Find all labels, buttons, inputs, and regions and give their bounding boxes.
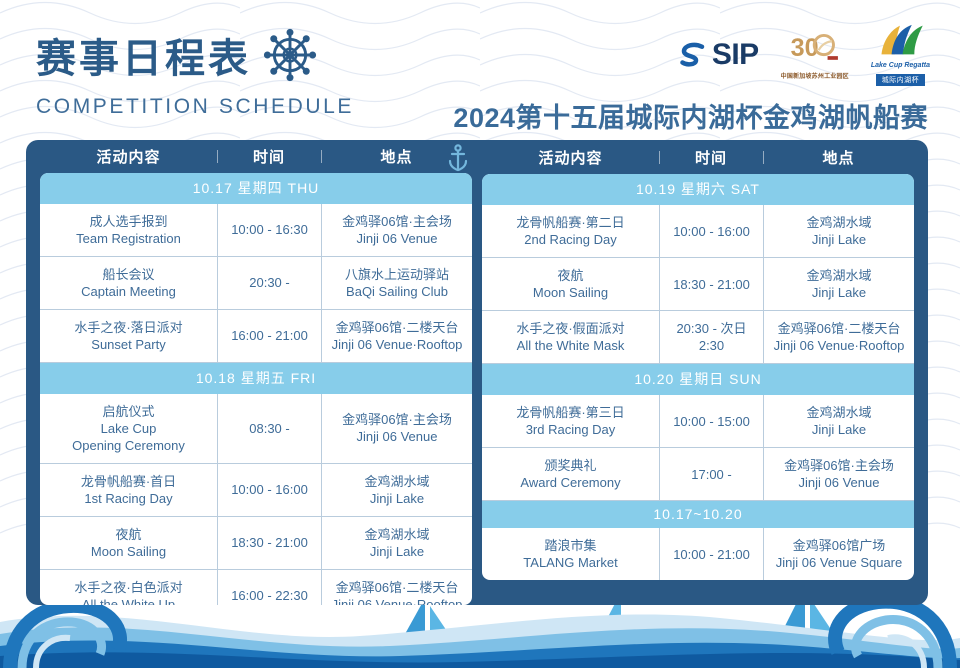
sip-logo: SIP: [678, 38, 759, 72]
page-header: 赛事日程表: [0, 0, 960, 140]
page-subtitle: COMPETITION SCHEDULE: [36, 95, 386, 119]
cell-event: 启航仪式Lake CupOpening Ceremony: [40, 394, 217, 463]
cell-event: 水手之夜·假面派对All the White Mask: [482, 311, 659, 363]
column-header-event: 活动内容: [482, 147, 659, 168]
cell-place: 金鸡驿06馆·主会场Jinji 06 Venue: [763, 448, 914, 500]
date-band: 10.20 星期日 SUN: [482, 364, 914, 395]
table-row[interactable]: 夜航Moon Sailing18:30 - 21:00金鸡湖水域Jinji La…: [40, 517, 472, 570]
anniversary-logo-subtitle: 中国新加坡苏州工业园区: [781, 71, 849, 80]
cell-place: 金鸡驿06馆·主会场Jinji 06 Venue: [321, 394, 472, 463]
page-title: 赛事日程表: [36, 36, 251, 82]
column-header-time: 时间: [217, 146, 321, 167]
lake-cup-logo: Lake Cup Regatta 城际内湖杯: [871, 24, 930, 87]
cell-place: 金鸡湖水域Jinji Lake: [763, 205, 914, 257]
cell-time: 08:30 -: [217, 394, 321, 463]
lake-cup-logo-cn: 城际内湖杯: [876, 74, 926, 86]
cell-time: 17:00 -: [659, 448, 763, 500]
cell-time: 18:30 - 21:00: [217, 517, 321, 569]
cell-time: 20:30 -: [217, 257, 321, 309]
column-header-time: 时间: [659, 147, 763, 168]
column-header-place: 地点: [763, 147, 914, 168]
cell-place: 八旗水上运动驿站BaQi Sailing Club: [321, 257, 472, 309]
schedule-column-left: 活动内容 时间 地点 10.17 星期四 THU成人选手报到Team Regis…: [40, 140, 472, 605]
schedule-table-right: 10.19 星期六 SAT龙骨帆船赛·第二日2nd Racing Day10:0…: [482, 174, 914, 580]
cell-event: 夜航Moon Sailing: [40, 517, 217, 569]
ships-wheel-icon: [261, 26, 319, 89]
title-block: 赛事日程表: [36, 26, 386, 119]
cell-time: 20:30 - 次日2:30: [659, 311, 763, 363]
cell-place: 金鸡湖水域Jinji Lake: [321, 517, 472, 569]
cell-event: 龙骨帆船赛·第二日2nd Racing Day: [482, 205, 659, 257]
table-row[interactable]: 龙骨帆船赛·第二日2nd Racing Day10:00 - 16:00金鸡湖水…: [482, 205, 914, 258]
logo-group: SIP 30 中国新加坡苏州工业园区 Lake Cup Regatta 城际内湖…: [678, 26, 930, 84]
anchor-icon: [447, 144, 469, 172]
table-row[interactable]: 水手之夜·落日派对Sunset Party16:00 - 21:00金鸡驿06馆…: [40, 310, 472, 363]
date-band: 10.18 星期五 FRI: [40, 363, 472, 394]
table-row[interactable]: 水手之夜·白色派对All the White Up16:00 - 22:30金鸡…: [40, 570, 472, 605]
cell-time: 10:00 - 15:00: [659, 395, 763, 447]
cell-place: 金鸡湖水域Jinji Lake: [763, 395, 914, 447]
table-row[interactable]: 龙骨帆船赛·第三日3rd Racing Day10:00 - 15:00金鸡湖水…: [482, 395, 914, 448]
table-row[interactable]: 启航仪式Lake CupOpening Ceremony08:30 -金鸡驿06…: [40, 394, 472, 464]
cell-time: 16:00 - 21:00: [217, 310, 321, 362]
date-band: 10.19 星期六 SAT: [482, 174, 914, 205]
date-band: 10.17 星期四 THU: [40, 173, 472, 204]
lake-cup-sail-icon: [874, 24, 926, 56]
sip-mark-icon: [678, 40, 708, 70]
schedule-column-right: 活动内容 时间 地点 10.19 星期六 SAT龙骨帆船赛·第二日2nd Rac…: [482, 140, 914, 605]
table-row[interactable]: 龙骨帆船赛·首日1st Racing Day10:00 - 16:00金鸡湖水域…: [40, 464, 472, 517]
cell-event: 水手之夜·落日派对Sunset Party: [40, 310, 217, 362]
event-title: 2024第十五届城际内湖杯金鸡湖帆船赛: [453, 96, 928, 135]
schedule-table-left: 10.17 星期四 THU成人选手报到Team Registration10:0…: [40, 173, 472, 605]
cell-event: 水手之夜·白色派对All the White Up: [40, 570, 217, 605]
cell-event: 成人选手报到Team Registration: [40, 204, 217, 256]
cell-time: 10:00 - 16:00: [659, 205, 763, 257]
table-row[interactable]: 夜航Moon Sailing18:30 - 21:00金鸡湖水域Jinji La…: [482, 258, 914, 311]
schedule-panel: 活动内容 时间 地点 10.17 星期四 THU成人选手报到Team Regis…: [26, 140, 928, 605]
table-row[interactable]: 船长会议Captain Meeting20:30 -八旗水上运动驿站BaQi S…: [40, 257, 472, 310]
table-row[interactable]: 成人选手报到Team Registration10:00 - 16:30金鸡驿0…: [40, 204, 472, 257]
cell-place: 金鸡驿06馆·主会场Jinji 06 Venue: [321, 204, 472, 256]
cell-place: 金鸡驿06馆广场Jinji 06 Venue Square: [763, 528, 914, 580]
cell-time: 10:00 - 16:00: [217, 464, 321, 516]
table-row[interactable]: 踏浪市集TALANG Market10:00 - 21:00金鸡驿06馆广场Ji…: [482, 528, 914, 580]
cell-place: 金鸡驿06馆·二楼天台Jinji 06 Venue·Rooftop: [763, 311, 914, 363]
date-band: 10.17~10.20: [482, 501, 914, 528]
column-header-event: 活动内容: [40, 146, 217, 167]
column-header-left: 活动内容 时间 地点: [40, 140, 472, 173]
cell-place: 金鸡驿06馆·二楼天台Jinji 06 Venue·Rooftop: [321, 570, 472, 605]
cell-place: 金鸡驿06馆·二楼天台Jinji 06 Venue·Rooftop: [321, 310, 472, 362]
cell-event: 颁奖典礼Award Ceremony: [482, 448, 659, 500]
cell-place: 金鸡湖水域Jinji Lake: [763, 258, 914, 310]
cell-time: 16:00 - 22:30: [217, 570, 321, 605]
sip-logo-text: SIP: [712, 38, 759, 72]
lake-cup-logo-en: Lake Cup Regatta: [871, 62, 930, 69]
cell-time: 10:00 - 21:00: [659, 528, 763, 580]
cell-event: 船长会议Captain Meeting: [40, 257, 217, 309]
cell-event: 龙骨帆船赛·首日1st Racing Day: [40, 464, 217, 516]
table-row[interactable]: 颁奖典礼Award Ceremony17:00 -金鸡驿06馆·主会场Jinji…: [482, 448, 914, 501]
anniversary-30-icon: 30: [789, 31, 841, 65]
cell-event: 夜航Moon Sailing: [482, 258, 659, 310]
cell-time: 18:30 - 21:00: [659, 258, 763, 310]
column-header-right: 活动内容 时间 地点: [482, 140, 914, 174]
table-row[interactable]: 水手之夜·假面派对All the White Mask20:30 - 次日2:3…: [482, 311, 914, 364]
cell-time: 10:00 - 16:30: [217, 204, 321, 256]
cell-event: 龙骨帆船赛·第三日3rd Racing Day: [482, 395, 659, 447]
cell-place: 金鸡湖水域Jinji Lake: [321, 464, 472, 516]
cell-event: 踏浪市集TALANG Market: [482, 528, 659, 580]
anniversary-logo: 30 中国新加坡苏州工业园区: [781, 31, 849, 80]
